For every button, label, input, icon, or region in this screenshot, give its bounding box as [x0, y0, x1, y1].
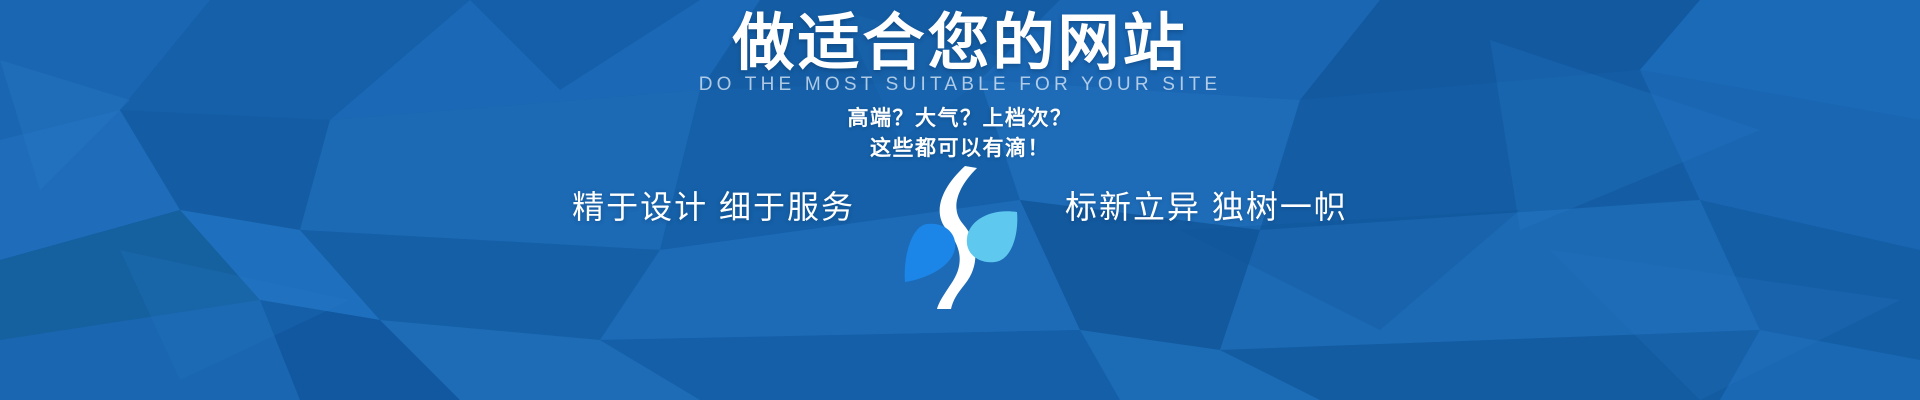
website-hero-banner: 做适合您的网站 DO THE MOST SUITABLE FOR YOUR SI…: [0, 0, 1920, 400]
pitch-text: 高端？大气？上档次？ 这些都可以有滴！: [0, 104, 1920, 164]
leaf-sprout-logo-icon: [895, 164, 1025, 309]
pitch-line-1: 高端？大气？上档次？: [0, 104, 1920, 134]
banner-content: 做适合您的网站 DO THE MOST SUITABLE FOR YOUR SI…: [0, 0, 1920, 400]
slogan-row: 精于设计 细于服务 标新立异 独树一帜: [0, 176, 1920, 296]
slogan-left: 精于设计 细于服务: [475, 187, 895, 227]
page-title: 做适合您的网站: [0, 8, 1920, 80]
pitch-line-2: 这些都可以有滴！: [0, 134, 1920, 164]
slogan-right: 标新立异 独树一帜: [1025, 187, 1445, 227]
english-subtitle: DO THE MOST SUITABLE FOR YOUR SITE: [0, 72, 1920, 98]
